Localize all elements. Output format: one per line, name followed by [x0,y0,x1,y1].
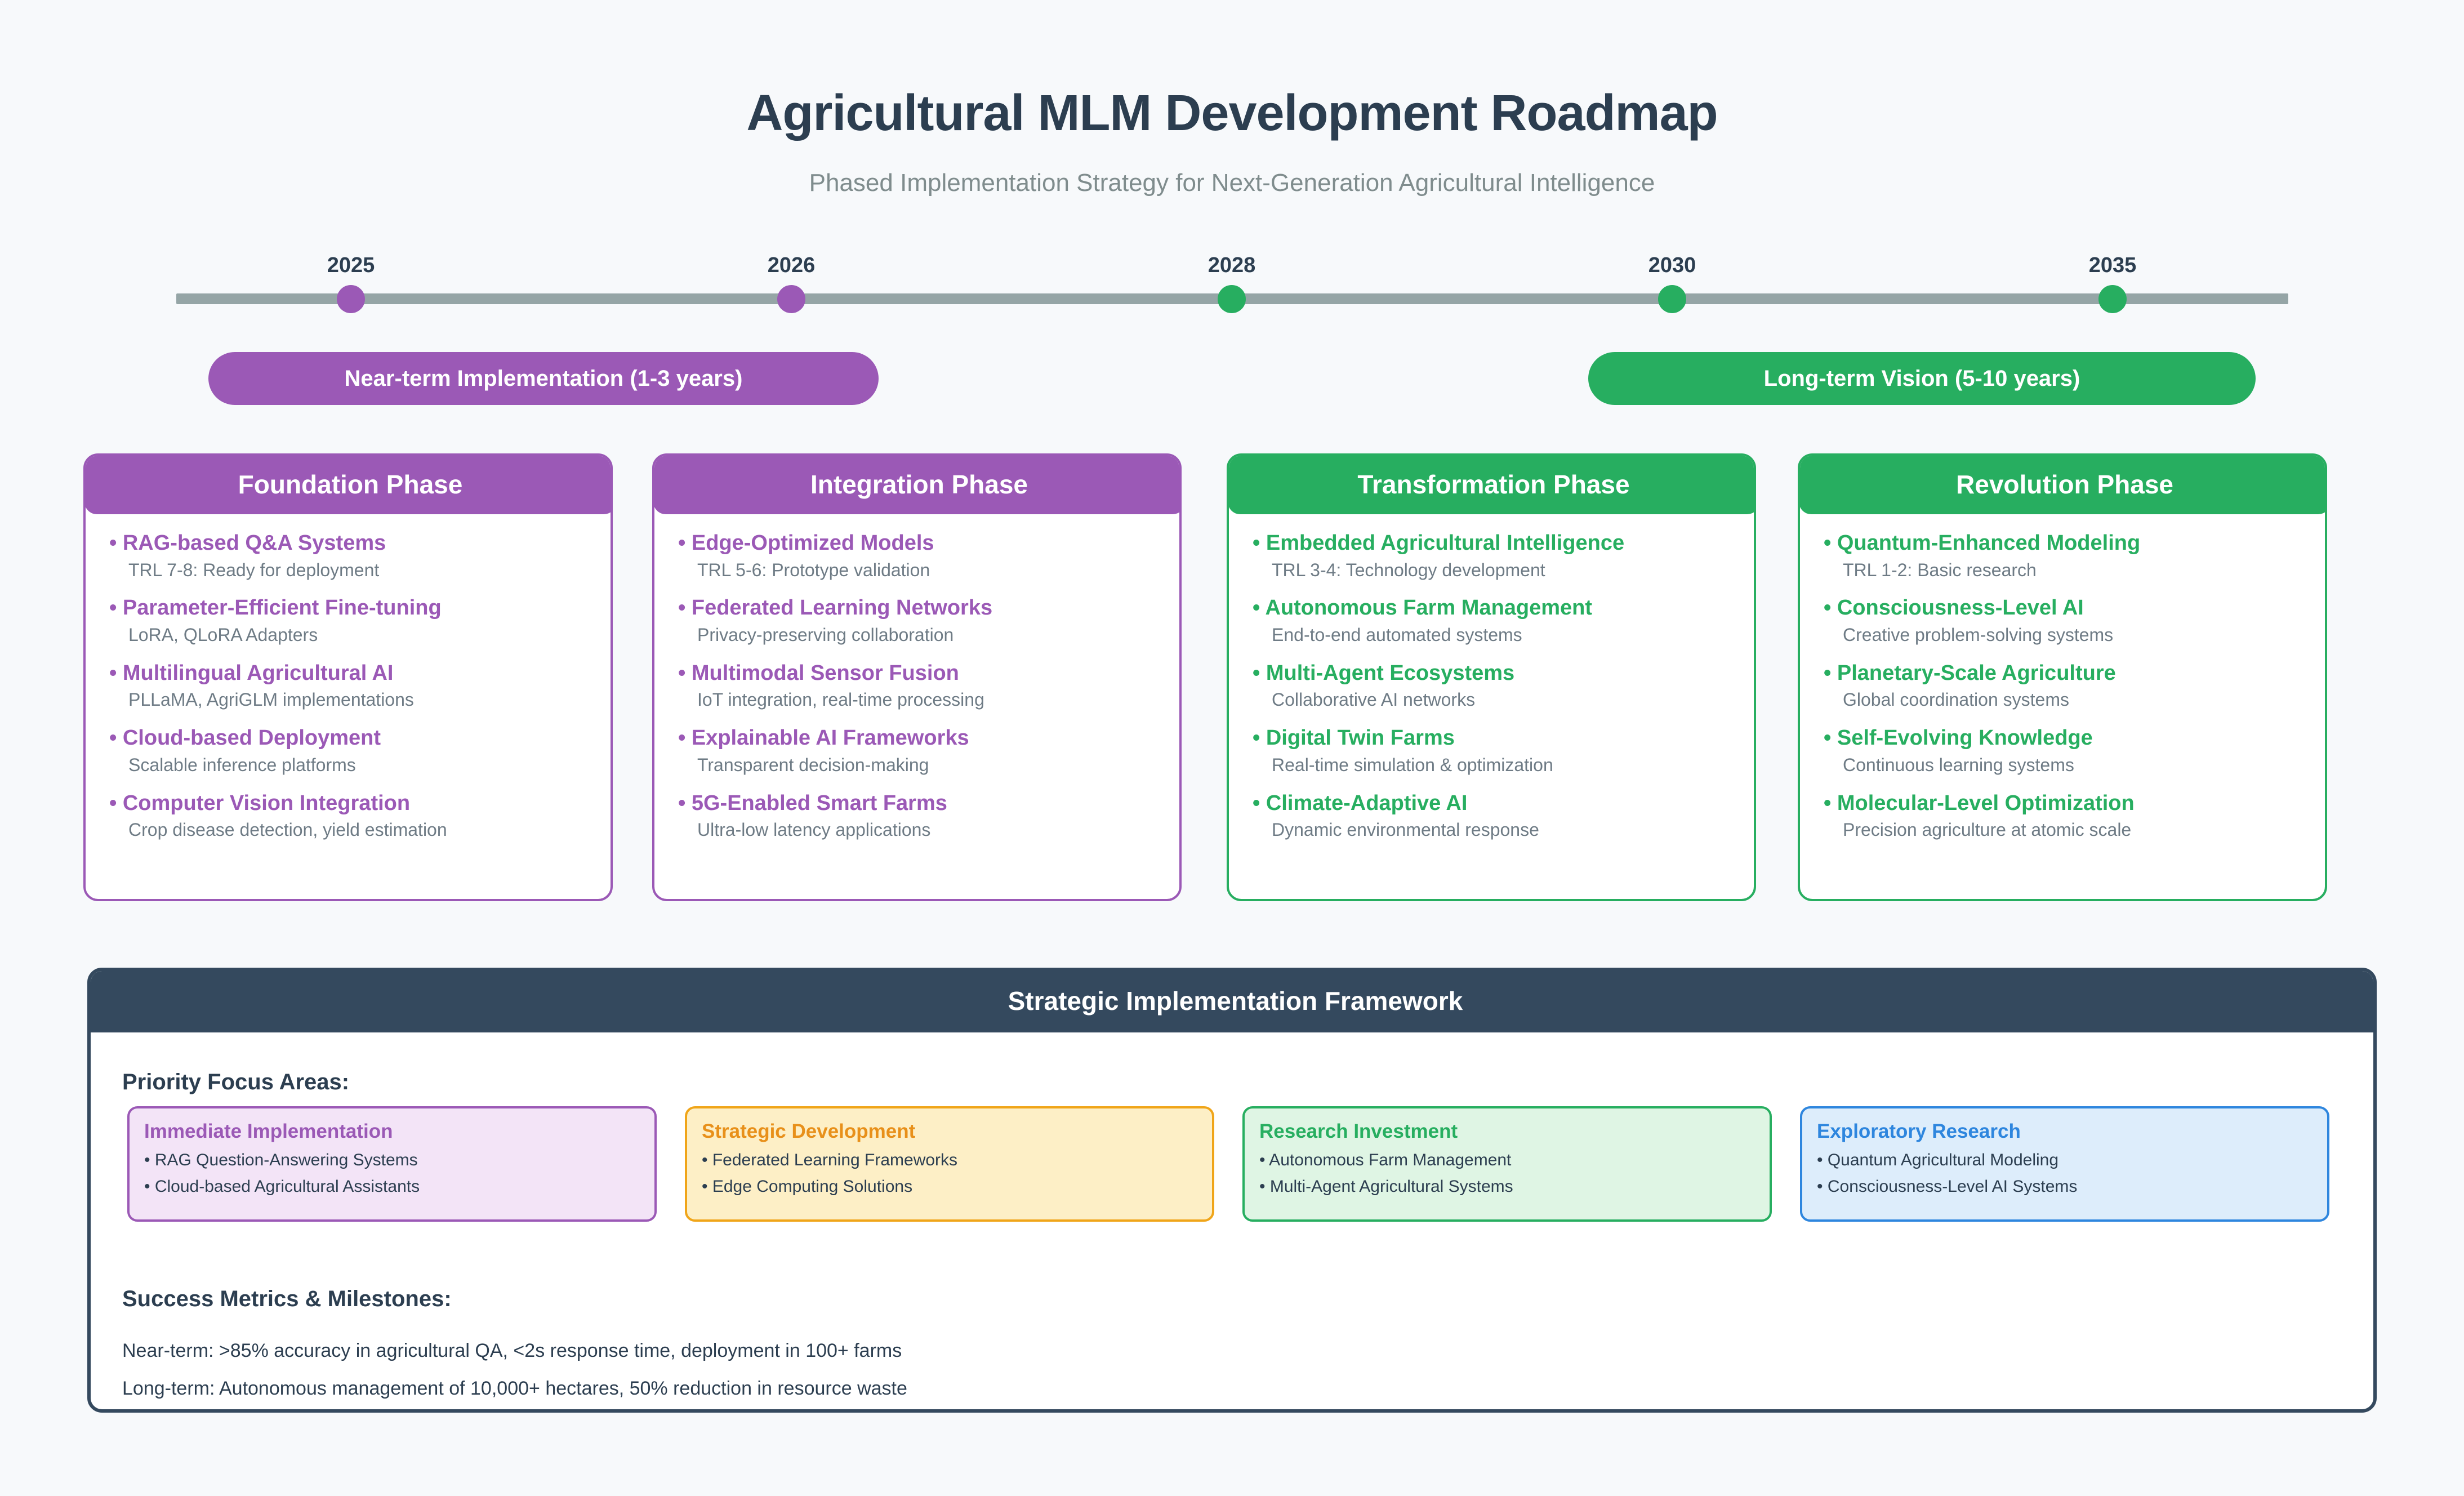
phase-card-revolution-phase[interactable]: Revolution Phase• Quantum-Enhanced Model… [1798,453,2327,901]
phase-item-subtitle: Precision agriculture at atomic scale [1843,820,2301,840]
phase-item-title: • Parameter-Efficient Fine-tuning [109,596,587,620]
timeline-dot-2035[interactable] [2098,285,2127,313]
phase-item-title: • Autonomous Farm Management [1253,596,1730,620]
phase-item-title: • Molecular-Level Optimization [1824,791,2301,816]
phase-item-subtitle: LoRA, QLoRA Adapters [128,625,587,645]
phase-item-title: • Planetary-Scale Agriculture [1824,661,2301,685]
focus-area-item: • Multi-Agent Agricultural Systems [1259,1177,1755,1196]
focus-area-card-immediate-implementation[interactable]: Immediate Implementation• RAG Question-A… [127,1106,657,1222]
metric-near-term: Near-term: >85% accuracy in agricultural… [122,1340,902,1362]
phase-item: • Federated Learning NetworksPrivacy-pre… [678,596,1156,645]
phase-item: • Digital Twin FarmsReal-time simulation… [1253,726,1730,775]
phase-item-subtitle: Collaborative AI networks [1272,690,1730,710]
phase-item-subtitle: Privacy-preserving collaboration [697,625,1156,645]
roadmap-canvas: Agricultural MLM Development Roadmap Pha… [0,0,2464,1496]
phase-item-subtitle: Transparent decision-making [697,755,1156,776]
focus-area-item: • Cloud-based Agricultural Assistants [144,1177,640,1196]
phase-item: • Edge-Optimized ModelsTRL 5-6: Prototyp… [678,531,1156,580]
timeline-year-2028: 2028 [1208,253,1256,278]
timeline-pill-0[interactable]: Near-term Implementation (1-3 years) [208,352,879,405]
phase-item: • Planetary-Scale AgricultureGlobal coor… [1824,661,2301,710]
phase-item-subtitle: TRL 1-2: Basic research [1843,560,2301,581]
focus-area-item: • Federated Learning Frameworks [702,1151,1197,1170]
phase-item-title: • Federated Learning Networks [678,596,1156,620]
phase-card-body: • Edge-Optimized ModelsTRL 5-6: Prototyp… [654,519,1179,856]
phase-item: • Autonomous Farm ManagementEnd-to-end a… [1253,596,1730,645]
phase-item-subtitle: IoT integration, real-time processing [697,690,1156,710]
phase-card-header: Integration Phase [653,455,1182,514]
phase-item-subtitle: Creative problem-solving systems [1843,625,2301,645]
phase-item-subtitle: PLLaMA, AgriGLM implementations [128,690,587,710]
success-metrics-label: Success Metrics & Milestones: [122,1286,452,1312]
focus-area-item: • Consciousness-Level AI Systems [1817,1177,2312,1196]
timeline-year-2030: 2030 [1648,253,1696,278]
timeline-year-2025: 2025 [327,253,375,278]
phase-item: • Multi-Agent EcosystemsCollaborative AI… [1253,661,1730,710]
timeline-year-2035: 2035 [2089,253,2137,278]
phase-item: • Climate-Adaptive AIDynamic environment… [1253,791,1730,840]
phase-item: • Consciousness-Level AICreative problem… [1824,596,2301,645]
focus-area-title: Immediate Implementation [144,1121,640,1143]
phase-item-title: • Embedded Agricultural Intelligence [1253,531,1730,555]
phase-item-subtitle: Ultra-low latency applications [697,820,1156,840]
phase-item: • Molecular-Level OptimizationPrecision … [1824,791,2301,840]
timeline-year-2026: 2026 [768,253,816,278]
phase-item-title: • Computer Vision Integration [109,791,587,816]
phase-item: • Cloud-based DeploymentScalable inferen… [109,726,587,775]
phase-item-title: • Consciousness-Level AI [1824,596,2301,620]
phase-card-body: • Embedded Agricultural IntelligenceTRL … [1229,519,1754,856]
phase-item-title: • Cloud-based Deployment [109,726,587,750]
focus-area-card-exploratory-research[interactable]: Exploratory Research• Quantum Agricultur… [1800,1106,2329,1222]
phase-item: • Multimodal Sensor FusionIoT integratio… [678,661,1156,710]
phase-item-subtitle: Crop disease detection, yield estimation [128,820,587,840]
phase-item-subtitle: TRL 3-4: Technology development [1272,560,1730,581]
phase-item: • Embedded Agricultural IntelligenceTRL … [1253,531,1730,580]
priority-focus-label: Priority Focus Areas: [122,1070,349,1095]
phase-item: • Parameter-Efficient Fine-tuningLoRA, Q… [109,596,587,645]
phase-item-title: • Multimodal Sensor Fusion [678,661,1156,685]
phase-card-integration-phase[interactable]: Integration Phase• Edge-Optimized Models… [652,453,1182,901]
phase-item-subtitle: Global coordination systems [1843,690,2301,710]
focus-area-group: Immediate Implementation• RAG Question-A… [119,1106,2349,1222]
phase-item-title: • Quantum-Enhanced Modeling [1824,531,2301,555]
timeline-dot-2025[interactable] [337,285,365,313]
metric-long-term: Long-term: Autonomous management of 10,0… [122,1378,907,1400]
focus-area-title: Exploratory Research [1817,1121,2312,1143]
focus-area-title: Research Investment [1259,1121,1755,1143]
phase-item-subtitle: Real-time simulation & optimization [1272,755,1730,776]
phase-card-header: Foundation Phase [84,455,613,514]
timeline-dot-2028[interactable] [1218,285,1246,313]
phase-item-title: • Multi-Agent Ecosystems [1253,661,1730,685]
focus-area-item: • Edge Computing Solutions [702,1177,1197,1196]
phase-item-title: • Edge-Optimized Models [678,531,1156,555]
phase-item-title: • Digital Twin Farms [1253,726,1730,750]
phase-item-title: • Self-Evolving Knowledge [1824,726,2301,750]
phase-item-subtitle: Dynamic environmental response [1272,820,1730,840]
phase-item-subtitle: TRL 5-6: Prototype validation [697,560,1156,581]
phase-item: • Quantum-Enhanced ModelingTRL 1-2: Basi… [1824,531,2301,580]
page-title: Agricultural MLM Development Roadmap [0,84,2464,143]
phase-item-title: • Multilingual Agricultural AI [109,661,587,685]
focus-area-item: • RAG Question-Answering Systems [144,1151,640,1170]
timeline-dot-2030[interactable] [1658,285,1686,313]
phase-item-subtitle: End-to-end automated systems [1272,625,1730,645]
phase-item-title: • 5G-Enabled Smart Farms [678,791,1156,816]
focus-area-card-strategic-development[interactable]: Strategic Development• Federated Learnin… [685,1106,1214,1222]
focus-area-card-research-investment[interactable]: Research Investment• Autonomous Farm Man… [1242,1106,1772,1222]
phase-item: • 5G-Enabled Smart FarmsUltra-low latenc… [678,791,1156,840]
phase-item-subtitle: Scalable inference platforms [128,755,587,776]
focus-area-item: • Autonomous Farm Management [1259,1151,1755,1170]
framework-header: Strategic Implementation Framework [89,969,2377,1032]
phase-card-body: • Quantum-Enhanced ModelingTRL 1-2: Basi… [1800,519,2325,856]
phase-item: • Self-Evolving KnowledgeContinuous lear… [1824,726,2301,775]
phase-card-transformation-phase[interactable]: Transformation Phase• Embedded Agricultu… [1227,453,1756,901]
phase-item: • Multilingual Agricultural AIPLLaMA, Ag… [109,661,587,710]
phase-card-body: • RAG-based Q&A SystemsTRL 7-8: Ready fo… [86,519,611,856]
phase-card-foundation-phase[interactable]: Foundation Phase• RAG-based Q&A SystemsT… [83,453,613,901]
phase-item-subtitle: Continuous learning systems [1843,755,2301,776]
focus-area-title: Strategic Development [702,1121,1197,1143]
phase-item-title: • RAG-based Q&A Systems [109,531,587,555]
page-subtitle: Phased Implementation Strategy for Next-… [0,169,2464,197]
phase-item-title: • Explainable AI Frameworks [678,726,1156,750]
timeline-dot-2026[interactable] [777,285,805,313]
phase-card-header: Revolution Phase [1799,455,2327,514]
timeline-pill-1[interactable]: Long-term Vision (5-10 years) [1588,352,2256,405]
phase-item-subtitle: TRL 7-8: Ready for deployment [128,560,587,581]
focus-area-item: • Quantum Agricultural Modeling [1817,1151,2312,1170]
phase-item: • RAG-based Q&A SystemsTRL 7-8: Ready fo… [109,531,587,580]
strategic-framework-panel: Strategic Implementation Framework Prior… [87,968,2377,1413]
phase-card-header: Transformation Phase [1228,455,1756,514]
phase-item: • Computer Vision IntegrationCrop diseas… [109,791,587,840]
phase-item: • Explainable AI FrameworksTransparent d… [678,726,1156,775]
phase-item-title: • Climate-Adaptive AI [1253,791,1730,816]
